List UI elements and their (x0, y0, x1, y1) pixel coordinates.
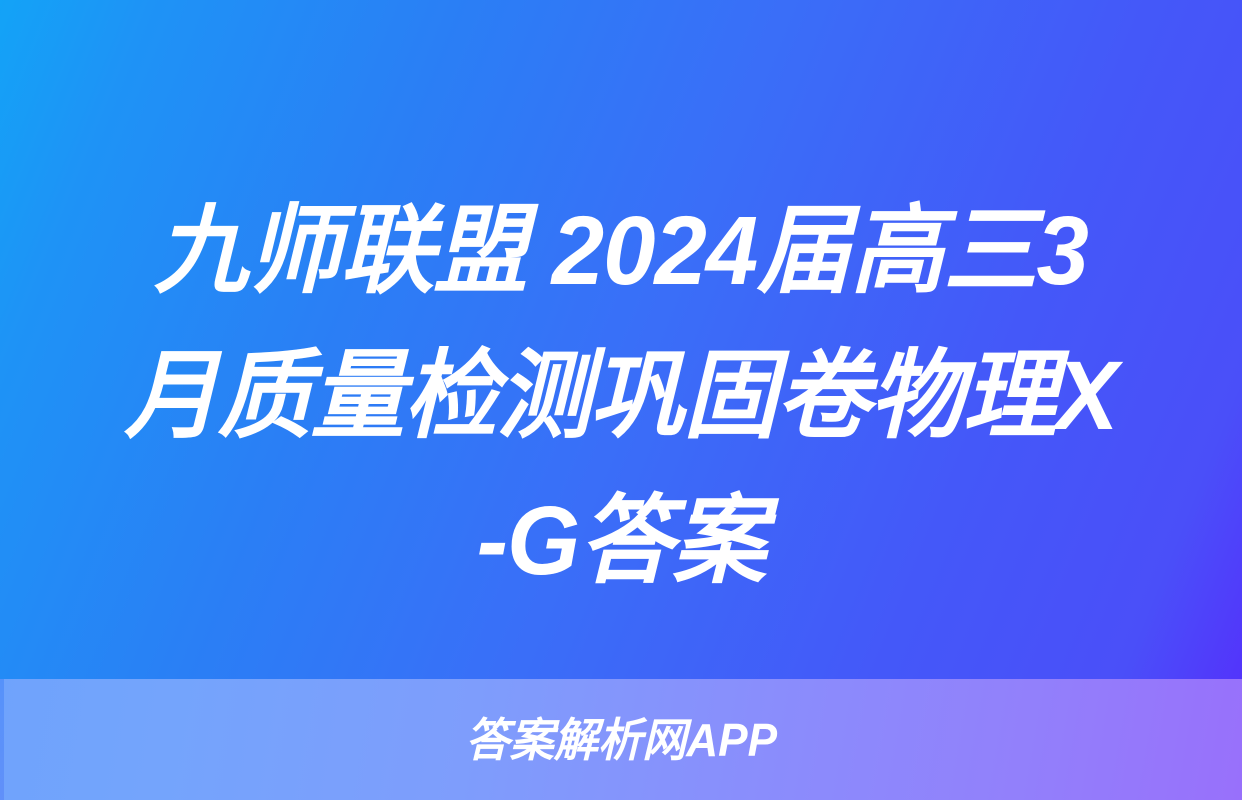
watermark-label: 答案解析网APP (465, 717, 777, 763)
page-title-line-2: 月质量检测巩固卷物理X (79, 323, 1163, 468)
page-title: 九师联盟 2024届高三3 月质量检测巩固卷物理X -G答案 (62, 178, 1180, 613)
screenshot-canvas: 九师联盟 2024届高三3 月质量检测巩固卷物理X -G答案 答案解析网APP (0, 0, 1242, 800)
page-title-line-3: -G答案 (79, 468, 1163, 613)
page-title-line-1: 九师联盟 2024届高三3 (79, 178, 1163, 323)
footer-watermark-band: 答案解析网APP (0, 679, 1242, 800)
